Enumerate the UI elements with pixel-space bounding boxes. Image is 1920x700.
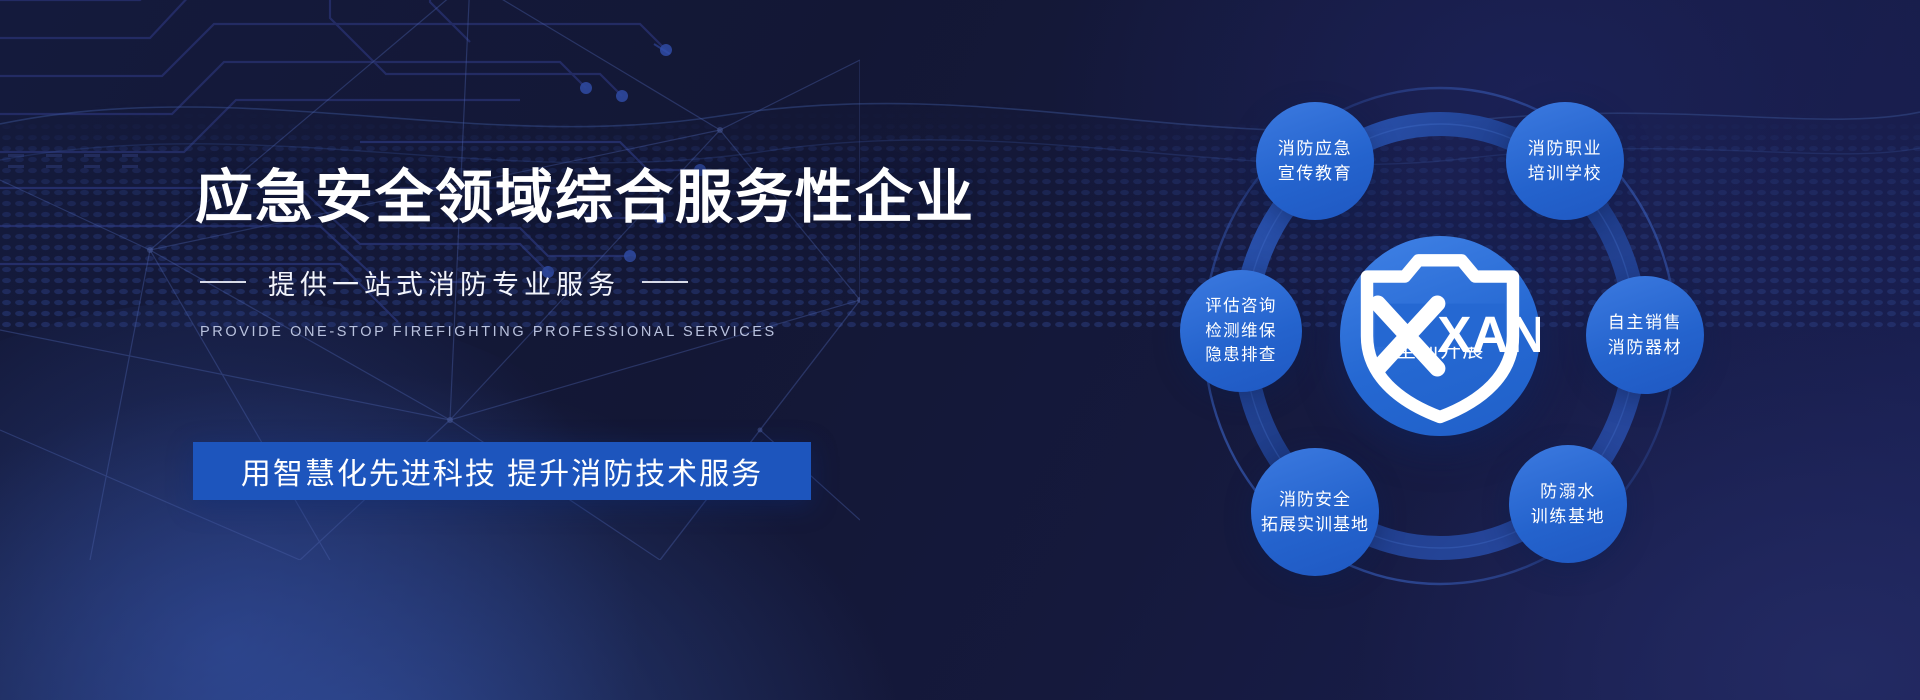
- node-line-1: 自主销售: [1608, 310, 1682, 336]
- left-glow: [0, 300, 720, 700]
- shield-x-logo-icon: XAN: [1340, 236, 1540, 436]
- page-title: 应急安全领域综合服务性企业: [195, 168, 975, 229]
- node-line-3: 隐患排查: [1205, 343, 1277, 367]
- node-line-1: 消防应急: [1278, 136, 1352, 162]
- hero-banner: 应急安全领域综合服务性企业 提供一站式消防专业服务 PROVIDE ONE-ST…: [0, 0, 1920, 700]
- node-fire-emergency-education[interactable]: 消防应急 宣传教育: [1256, 102, 1374, 220]
- rule-right: [642, 281, 688, 283]
- node-assessment-inspection[interactable]: 评估咨询 检测维保 隐患排查: [1180, 270, 1302, 392]
- rule-left: [200, 281, 246, 283]
- node-fire-vocational-school[interactable]: 消防职业 培训学校: [1506, 102, 1624, 220]
- node-line-2: 拓展实训基地: [1261, 512, 1369, 538]
- node-line-1: 评估咨询: [1205, 294, 1277, 318]
- english-tagline: PROVIDE ONE-STOP FIREFIGHTING PROFESSION…: [200, 324, 975, 340]
- page-subtitle: 提供一站式消防专业服务: [268, 263, 620, 302]
- node-line-1: 消防职业: [1528, 136, 1602, 162]
- services-orbit-diagram: XAN 多元化产业 全面开展 消防应急 宣传教育 消防职业 培训学校 评估咨询 …: [1120, 70, 1760, 630]
- node-line-2: 培训学校: [1528, 161, 1602, 187]
- node-line-1: 消防安全: [1279, 487, 1351, 513]
- dash-decor: [8, 154, 138, 168]
- svg-text:XAN: XAN: [1437, 306, 1540, 363]
- cta-banner-button[interactable]: 用智慧化先进科技 提升消防技术服务: [193, 442, 811, 500]
- node-line-1: 防溺水: [1540, 479, 1596, 505]
- node-line-2: 检测维保: [1205, 319, 1277, 343]
- node-line-2: 宣传教育: [1278, 161, 1352, 187]
- node-equipment-sales[interactable]: 自主销售 消防器材: [1586, 276, 1704, 394]
- node-safety-training-base[interactable]: 消防安全 拓展实训基地: [1251, 448, 1379, 576]
- headline-block: 应急安全领域综合服务性企业 提供一站式消防专业服务 PROVIDE ONE-ST…: [195, 168, 975, 340]
- node-anti-drowning-base[interactable]: 防溺水 训练基地: [1509, 445, 1627, 563]
- subtitle-row: 提供一站式消防专业服务: [200, 263, 975, 302]
- diagram-center-node[interactable]: XAN 多元化产业 全面开展: [1340, 236, 1540, 436]
- node-line-2: 消防器材: [1608, 335, 1682, 361]
- node-line-2: 训练基地: [1531, 504, 1605, 530]
